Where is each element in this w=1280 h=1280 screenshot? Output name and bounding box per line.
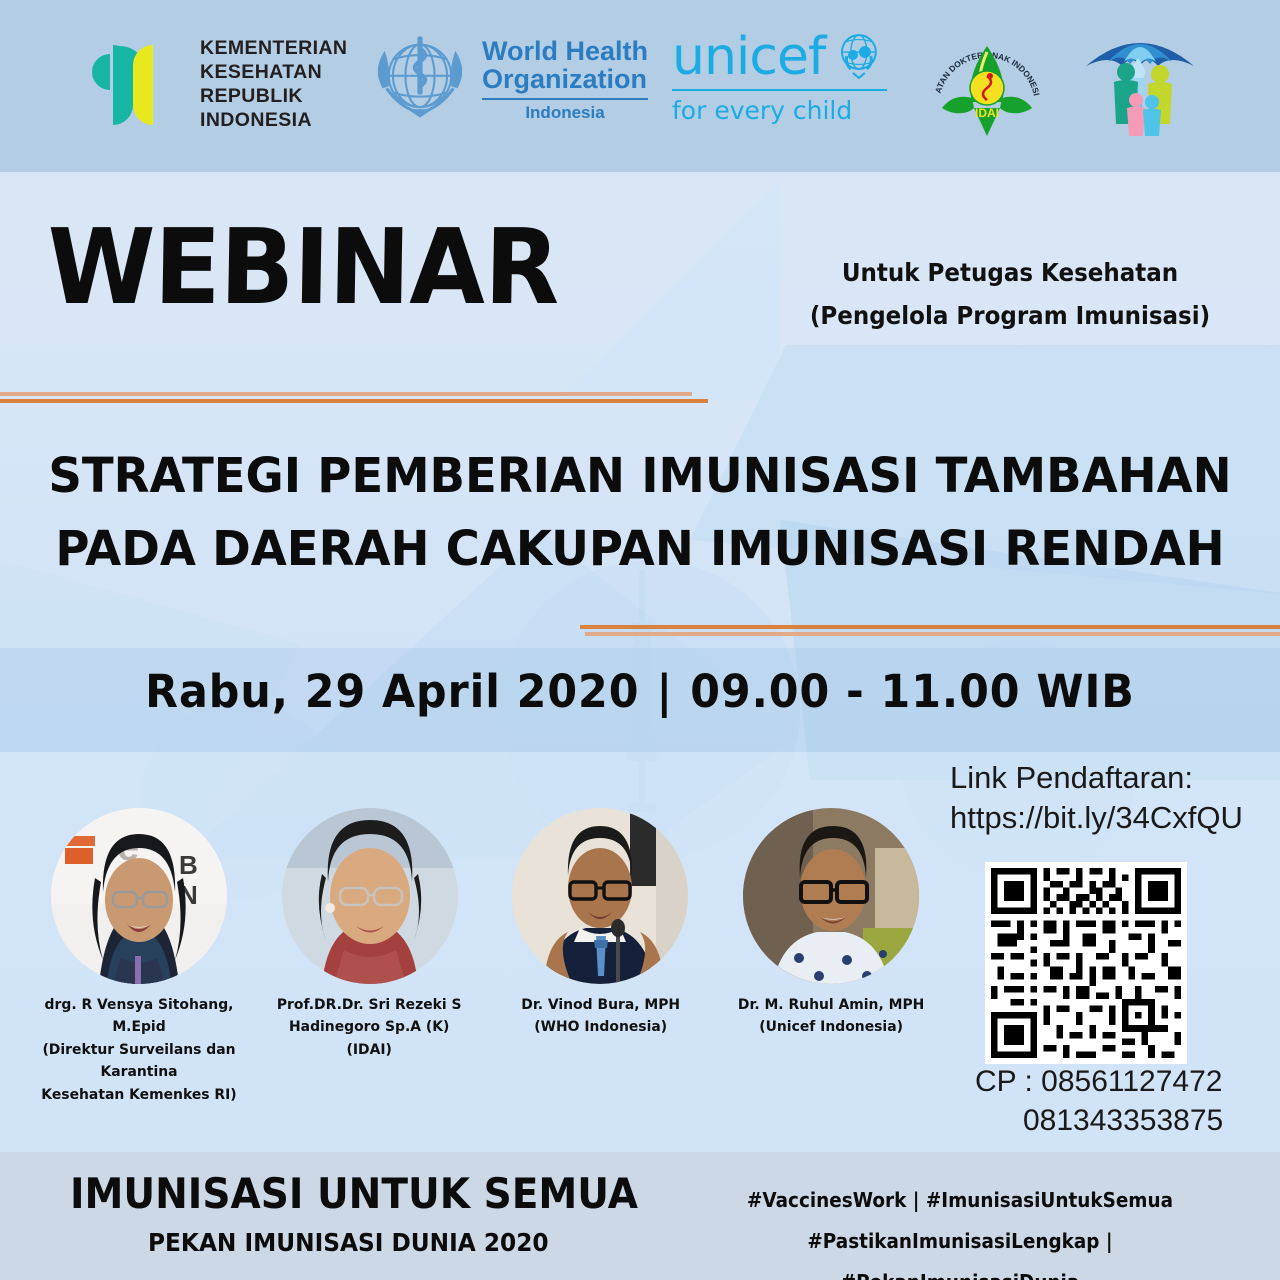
kemenkes-mark-icon: [80, 32, 186, 138]
kemenkes-line-4: INDONESIA: [200, 109, 347, 133]
avatar: e B N: [51, 808, 227, 984]
speaker-card: Dr. M. Ruhul Amin, MPH (Unicef Indonesia…: [722, 808, 940, 1106]
speaker-affiliation-2: (IDAI): [277, 1039, 462, 1061]
contact-block: CP : 08561127472 081343353875: [975, 1062, 1275, 1140]
speaker-name: Dr. M. Ruhul Amin, MPH: [738, 994, 924, 1016]
speaker-name: Dr. Vinod Bura, MPH: [521, 994, 680, 1016]
schedule: Rabu, 29 April 2020|09.00 - 11.00 WIB: [32, 665, 1248, 718]
kemenkes-line-1: KEMENTERIAN: [200, 37, 347, 61]
kemenkes-line-3: REPUBLIK: [200, 85, 347, 109]
svg-text:B: B: [179, 850, 198, 880]
footer-subslogan: PEKAN IMUNISASI DUNIA 2020: [148, 1228, 644, 1257]
divider-top-dark: [0, 399, 708, 403]
schedule-time: 09.00 - 11.00 WIB: [690, 665, 1135, 718]
speaker-affiliation-1: (Unicef Indonesia): [738, 1016, 924, 1038]
avatar: [512, 808, 688, 984]
unicef-wordmark: unicef: [672, 34, 825, 82]
qr-code[interactable]: [985, 862, 1187, 1064]
unicef-tagline: for every child: [672, 96, 887, 125]
speaker-list: e B N: [30, 808, 940, 1106]
registration-block: Link Pendaftaran: https://bit.ly/34CxfQU: [950, 758, 1270, 837]
qr-code-image: [991, 868, 1181, 1058]
unicef-logo: unicef for every child: [672, 30, 887, 125]
avatar: [743, 808, 919, 984]
who-divider: [482, 98, 648, 100]
who-wordmark: World Health Organization Indonesia: [482, 37, 648, 124]
contact-secondary: 081343353875: [975, 1101, 1275, 1140]
speaker-card: Dr. Vinod Bura, MPH (WHO Indonesia): [491, 808, 709, 1106]
speaker-name: Prof.DR.Dr. Sri Rezeki S: [277, 994, 462, 1016]
hashtag-line-1: #VaccinesWork | #ImunisasiUntukSemua: [721, 1180, 1199, 1221]
speaker-caption: Dr. Vinod Bura, MPH (WHO Indonesia): [521, 994, 680, 1039]
who-line-2: Organization: [482, 65, 648, 93]
speaker-card: e B N: [30, 808, 248, 1106]
page-title: WEBINAR: [46, 215, 559, 319]
kemenkes-line-2: KESEHATAN: [200, 61, 347, 85]
speaker-name: drg. R Vensya Sitohang, M.Epid: [34, 994, 243, 1039]
divider-bottom-light: [585, 632, 1280, 636]
speaker-affiliation-1: (Direktur Surveilans dan Karantina: [34, 1039, 243, 1084]
who-logo: World Health Organization Indonesia: [368, 28, 648, 132]
who-emblem-icon: [368, 28, 472, 132]
webinar-poster: KEMENTERIAN KESEHATAN REPUBLIK INDONESIA: [0, 0, 1280, 1280]
who-line-1: World Health: [482, 37, 648, 65]
kemenkes-logo: KEMENTERIAN KESEHATAN REPUBLIK INDONESIA: [80, 32, 347, 138]
footer-slogan-block: IMUNISASI UNTUK SEMUA PEKAN IMUNISASI DU…: [70, 1172, 681, 1257]
who-country: Indonesia: [482, 103, 648, 123]
speaker-affiliation-1: Hadinegoro Sp.A (K): [277, 1016, 462, 1038]
divider-bottom-dark: [580, 625, 1280, 629]
idai-abbr: IDAI: [975, 106, 999, 120]
speaker-affiliation-1: (WHO Indonesia): [521, 1016, 680, 1038]
footer-hashtags: #VaccinesWork | #ImunisasiUntukSemua #Pa…: [721, 1180, 1199, 1280]
schedule-date: Rabu, 29 April 2020: [145, 665, 639, 718]
divider-top-light: [0, 392, 692, 396]
speaker-caption: Prof.DR.Dr. Sri Rezeki S Hadinegoro Sp.A…: [277, 994, 462, 1061]
unicef-divider: [672, 89, 887, 91]
topic-line-1: STRATEGI PEMBERIAN IMUNISASI TAMBAHAN: [19, 440, 1261, 513]
topic-line-2: PADA DAERAH CAKUPAN IMUNISASI RENDAH: [19, 513, 1261, 586]
contact-primary: CP : 08561127472: [975, 1065, 1222, 1098]
audience-note: Untuk Petugas Kesehatan (Pengelola Progr…: [808, 252, 1213, 337]
registration-link[interactable]: https://bit.ly/34CxfQU: [950, 798, 1270, 838]
speaker-caption: Dr. M. Ruhul Amin, MPH (Unicef Indonesia…: [738, 994, 924, 1039]
unicef-emblem-icon: [831, 30, 887, 82]
speaker-card: Prof.DR.Dr. Sri Rezeki S Hadinegoro Sp.A…: [261, 808, 479, 1106]
schedule-separator: |: [639, 665, 690, 718]
idai-logo: IKATAN DOKTER ANAK INDONESIA IDAI: [928, 24, 1046, 144]
avatar: [282, 808, 458, 984]
footer-slogan: IMUNISASI UNTUK SEMUA: [70, 1172, 638, 1216]
speaker-caption: drg. R Vensya Sitohang, M.Epid (Direktur…: [34, 994, 243, 1106]
audience-line-1: Untuk Petugas Kesehatan: [808, 252, 1213, 295]
webinar-topic: STRATEGI PEMBERIAN IMUNISASI TAMBAHAN PA…: [19, 440, 1261, 586]
kemenkes-wordmark: KEMENTERIAN KESEHATAN REPUBLIK INDONESIA: [200, 37, 347, 132]
speaker-affiliation-2: Kesehatan Kemenkes RI): [34, 1084, 243, 1106]
umbrella-family-logo: [1078, 22, 1202, 146]
audience-line-2: (Pengelola Program Imunisasi): [808, 295, 1213, 338]
hashtag-line-2: #PastikanImunisasiLengkap | #PekanImunis…: [721, 1221, 1199, 1280]
registration-label: Link Pendaftaran:: [950, 758, 1270, 798]
